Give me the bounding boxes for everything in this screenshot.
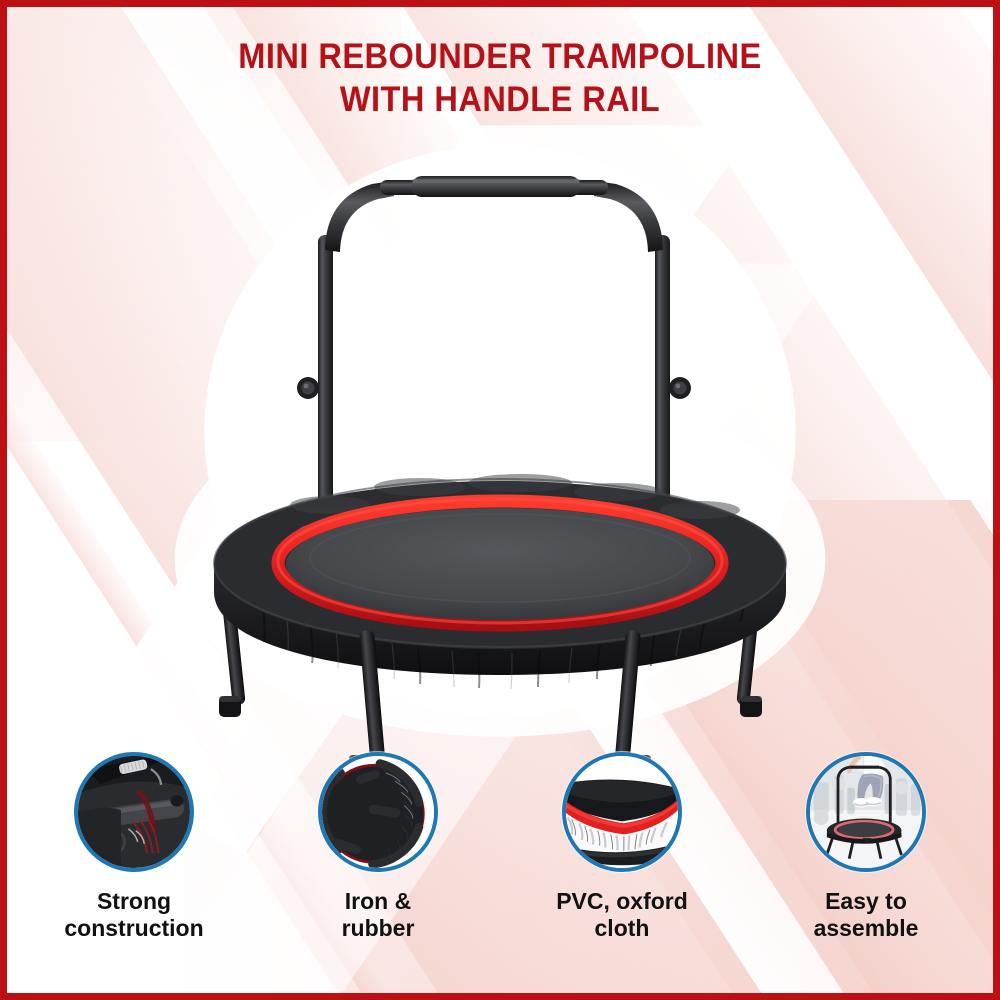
product-hero-image xyxy=(0,140,1000,760)
person-jumping-on-trampoline-icon xyxy=(806,752,926,872)
person-jumping-on-trampoline-photo xyxy=(810,756,922,868)
safety-pad-edge-photo xyxy=(566,756,678,868)
feature-label-line2: construction xyxy=(64,915,203,941)
feature-label-line1: PVC, oxford xyxy=(556,888,688,914)
feature-strong-construction: Strong construction xyxy=(18,752,250,942)
feature-label: Strong construction xyxy=(64,888,203,942)
title-line-1: MINI REBOUNDER TRAMPOLINE xyxy=(238,37,761,76)
page-title: MINI REBOUNDER TRAMPOLINE WITH HANDLE RA… xyxy=(35,36,965,121)
jumping-mat xyxy=(286,508,714,620)
feature-label-line2: cloth xyxy=(595,915,650,941)
trampoline-illustration xyxy=(0,140,1000,760)
handle-grip-closeup-photo xyxy=(78,756,190,868)
trampoline-frame-springs-photo xyxy=(322,756,434,868)
feature-pvc-oxford-cloth: PVC, oxford cloth xyxy=(506,752,738,942)
feature-label: Iron & rubber xyxy=(342,888,415,942)
feature-callout-row: Strong construction xyxy=(18,752,982,972)
trampoline-frame-springs-icon xyxy=(318,752,438,872)
feature-label-line2: assemble xyxy=(814,915,919,941)
feature-label-line2: rubber xyxy=(342,915,415,941)
feature-label: Easy to assemble xyxy=(814,888,919,942)
safety-pad-edge-icon xyxy=(562,752,682,872)
adjustment-knob-left xyxy=(297,377,319,399)
feature-label-line1: Strong xyxy=(97,888,171,914)
product-marketing-image: MINI REBOUNDER TRAMPOLINE WITH HANDLE RA… xyxy=(0,0,1000,1000)
adjustment-knob-right xyxy=(669,377,691,399)
handle-grip-closeup-icon xyxy=(74,752,194,872)
title-line-2: WITH HANDLE RAIL xyxy=(35,79,965,122)
feature-label-line1: Iron & xyxy=(345,888,411,914)
feature-easy-to-assemble: Easy to assemble xyxy=(750,752,982,942)
feature-label-line1: Easy to xyxy=(825,888,907,914)
feature-label: PVC, oxford cloth xyxy=(556,888,688,942)
feature-iron-rubber: Iron & rubber xyxy=(262,752,494,942)
